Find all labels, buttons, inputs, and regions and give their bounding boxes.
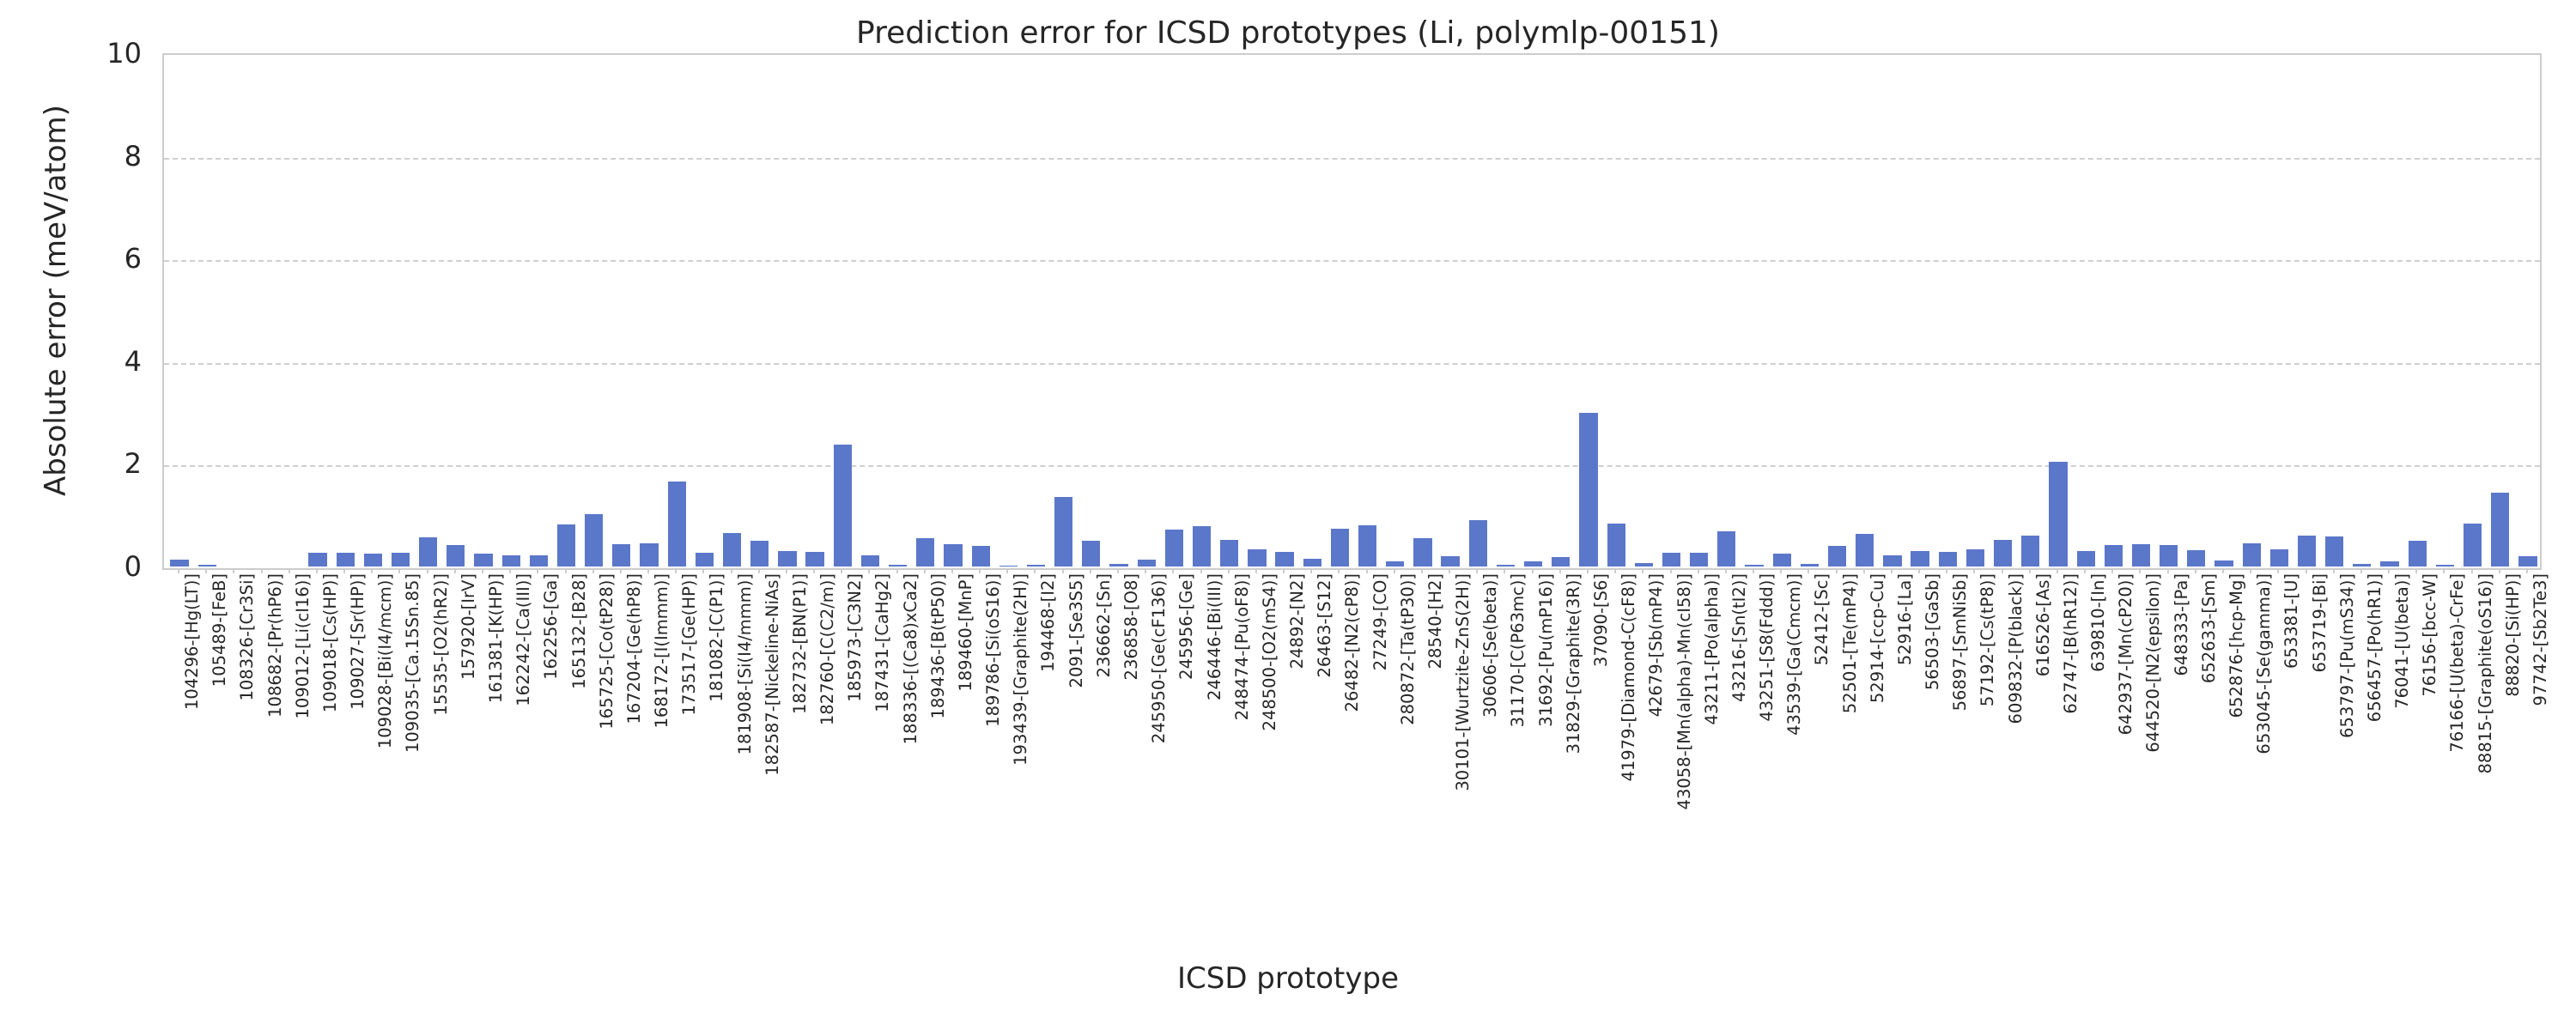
x-tick-label: 165725-[Co(tP28)]: [598, 573, 616, 730]
x-tick-label: 52916-[La]: [1897, 573, 1914, 665]
x-tick-mark: [1449, 568, 1450, 573]
x-tick-mark: [565, 568, 567, 573]
x-tick-mark: [1559, 568, 1561, 573]
x-tick-mark: [675, 568, 677, 573]
x-tick-label: 109027-[Sr(HP)]: [349, 573, 367, 710]
x-tick-mark: [178, 568, 179, 573]
x-tick-label: 165132-[B28]: [571, 573, 588, 689]
x-tick-label: 30606-[Se(beta)]: [1482, 573, 1499, 718]
x-tick-mark: [2360, 568, 2362, 573]
x-tick-mark: [1255, 568, 1257, 573]
x-tick-label: 653797-[Pu(mS34)]: [2339, 573, 2356, 738]
bar: [1441, 556, 1459, 566]
bar: [2049, 462, 2067, 566]
bar: [1082, 541, 1100, 566]
x-tick-label: 108326-[Cr3Si]: [239, 573, 256, 701]
bar: [889, 565, 907, 566]
x-tick-mark: [454, 568, 456, 573]
x-tick-label: 161381-[K(HP)]: [488, 573, 505, 703]
y-tick-label: 8: [125, 140, 142, 173]
x-tick-mark: [1532, 568, 1534, 573]
bar-series: [166, 57, 2538, 566]
x-tick-mark: [2499, 568, 2500, 573]
x-tick-mark: [2084, 568, 2086, 573]
x-tick-label: 248500-[O2(mS4)]: [1261, 573, 1279, 730]
x-tick-label: 280872-[Ta(tP30)]: [1400, 573, 1417, 725]
y-tick-label: 2: [125, 447, 142, 480]
x-tick-label: 652876-[hcp-Mg]: [2228, 573, 2245, 718]
bar: [1856, 534, 1874, 566]
x-tick-mark: [2195, 568, 2196, 573]
x-tick-mark: [2002, 568, 2003, 573]
x-tick-mark: [620, 568, 622, 573]
bar: [2491, 493, 2509, 566]
x-tick-mark: [924, 568, 926, 573]
x-tick-mark: [1338, 568, 1340, 573]
x-tick-mark: [1670, 568, 1672, 573]
bar: [1994, 540, 2012, 566]
x-tick-mark: [758, 568, 760, 573]
x-tick-mark: [1614, 568, 1616, 573]
x-tick-mark: [482, 568, 483, 573]
x-tick-label: 182587-[Nickeline-NiAs]: [764, 573, 781, 776]
x-tick-label: 109012-[Li(cI16)]: [295, 573, 312, 718]
x-tick-label: 56503-[GaSb]: [1924, 573, 1941, 690]
bar: [2380, 561, 2398, 566]
x-tick-label: 42679-[Sb(mP4)]: [1648, 573, 1665, 717]
x-tick-label: 644520-[N2(epsilon)]: [2145, 573, 2162, 753]
bar: [1717, 531, 1735, 566]
bar: [1745, 565, 1763, 566]
x-tick-mark: [2167, 568, 2169, 573]
bar: [530, 555, 548, 566]
bar: [972, 546, 990, 566]
x-tick-label: 76156-[bcc-W]: [2421, 573, 2439, 697]
x-tick-mark: [205, 568, 207, 573]
x-tick-label: 56897-[SmNiSb]: [1952, 573, 1969, 711]
x-tick-label: 648333-[Pa]: [2173, 573, 2190, 676]
bar: [308, 553, 326, 566]
bar: [2132, 544, 2150, 566]
x-tick-mark: [1863, 568, 1865, 573]
bar: [474, 554, 492, 566]
x-tick-label: 157920-[IrV]: [460, 573, 477, 680]
bar: [585, 514, 603, 566]
bar: [1883, 555, 1901, 566]
x-tick-label: 37090-[S6]: [1593, 573, 1610, 667]
x-tick-mark: [1973, 568, 1975, 573]
x-tick-label: 189786-[Si(oS16)]: [985, 573, 1002, 727]
x-tick-mark: [896, 568, 898, 573]
x-tick-label: 28540-[H2]: [1427, 573, 1444, 669]
x-tick-mark: [1090, 568, 1091, 573]
bar: [1358, 525, 1376, 566]
bar: [1303, 559, 1321, 566]
bar: [1579, 413, 1597, 566]
x-tick-label: 653719-[Bi]: [2312, 573, 2329, 673]
x-tick-mark: [1421, 568, 1423, 573]
bar: [364, 554, 382, 566]
bar: [1275, 552, 1293, 566]
x-tick-label: 109035-[Ca.15Sn.85]: [404, 573, 422, 753]
x-tick-label: 245950-[Ge(cF136)]: [1151, 573, 1168, 743]
bar: [502, 555, 520, 566]
bar: [640, 543, 658, 567]
bar: [1109, 564, 1127, 566]
x-tick-mark: [1891, 568, 1893, 573]
x-tick-label: 181082-[C(P1)]: [708, 573, 726, 702]
x-tick-mark: [1034, 568, 1036, 573]
x-tick-mark: [1145, 568, 1146, 573]
x-tick-mark: [1117, 568, 1119, 573]
x-tick-mark: [316, 568, 318, 573]
bar: [2021, 536, 2039, 566]
bar: [1193, 526, 1211, 566]
x-tick-mark: [2415, 568, 2417, 573]
x-tick-mark: [2111, 568, 2113, 573]
bar: [1524, 561, 1542, 566]
x-tick-mark: [1283, 568, 1285, 573]
y-tick-label: 4: [125, 345, 142, 378]
x-tick-label: 26463-[S12]: [1316, 573, 1334, 677]
x-axis-ticks: 104296-[Hg(LT)]105489-[FeB]108326-[Cr3Si…: [164, 573, 2540, 942]
x-tick-label: 245956-[Ge]: [1178, 573, 1195, 680]
x-tick-label: 167204-[Ge(hP8)]: [626, 573, 643, 724]
x-tick-label: 162242-[Ca(III)]: [515, 573, 532, 706]
x-tick-mark: [951, 568, 953, 573]
x-tick-mark: [2250, 568, 2251, 573]
x-tick-label: 236662-[Sn]: [1096, 573, 1113, 677]
x-tick-mark: [2277, 568, 2279, 573]
x-tick-label: 104296-[Hg(LT)]: [184, 573, 201, 710]
x-tick-label: 189436-[B(tP50)]: [930, 573, 947, 719]
bar: [337, 553, 355, 566]
bar: [2270, 549, 2288, 566]
x-tick-label: 97742-[Sb2Te3]: [2532, 573, 2549, 706]
bar: [696, 553, 714, 566]
bar: [916, 538, 934, 566]
x-tick-label: 109028-[Bi(I4/mcm)]: [377, 573, 394, 748]
x-tick-mark: [233, 568, 234, 573]
x-tick-mark: [1310, 568, 1312, 573]
x-tick-label: 616526-[As]: [2035, 573, 2052, 676]
x-tick-label: 24892-[N2]: [1289, 573, 1306, 669]
bar: [1165, 530, 1183, 566]
x-tick-mark: [427, 568, 428, 573]
x-tick-label: 188336-[(Ca8)xCa2]: [902, 573, 920, 744]
x-tick-mark: [979, 568, 981, 573]
x-tick-mark: [1062, 568, 1064, 573]
x-tick-mark: [398, 568, 400, 573]
bar: [2436, 565, 2454, 566]
bar: [1911, 551, 1929, 566]
bar: [1828, 546, 1846, 566]
x-tick-label: 656457-[Po(hR1)]: [2366, 573, 2384, 722]
y-tick-label: 10: [106, 37, 142, 70]
x-tick-label: 108682-[Pr(hP6)]: [267, 573, 284, 718]
x-tick-label: 181908-[Si(I4/mmm)]: [737, 573, 754, 754]
x-tick-mark: [1394, 568, 1395, 573]
y-tick-label: 6: [125, 242, 142, 275]
bar: [861, 555, 879, 566]
bar: [1331, 529, 1349, 566]
bar: [778, 551, 796, 566]
bar: [805, 552, 823, 566]
x-tick-label: 609832-[P(black)]: [2008, 573, 2025, 724]
x-tick-mark: [1725, 568, 1727, 573]
bar: [1607, 524, 1625, 566]
x-tick-mark: [702, 568, 704, 573]
bar: [2160, 545, 2178, 566]
x-tick-label: 31692-[Pu(mP16)]: [1538, 573, 1555, 727]
x-tick-mark: [1504, 568, 1505, 573]
x-tick-mark: [2139, 568, 2141, 573]
bar: [1497, 565, 1515, 566]
x-tick-label: 15535-[O2(hR2)]: [433, 573, 450, 716]
x-tick-mark: [289, 568, 290, 573]
bar: [2325, 536, 2343, 566]
x-tick-label: 41979-[Diamond-C(cF8)]: [1620, 573, 1637, 782]
chart-figure: Prediction error for ICSD prototypes (Li…: [0, 0, 2576, 1030]
page-title: Prediction error for ICSD prototypes (Li…: [0, 15, 2576, 51]
bar: [612, 544, 630, 566]
bar: [2187, 550, 2205, 566]
x-tick-mark: [841, 568, 842, 573]
x-tick-mark: [731, 568, 732, 573]
x-tick-label: 43539-[Ga(Cmcm)]: [1786, 573, 1803, 736]
x-tick-label: 88815-[Graphite(oS16)]: [2477, 573, 2494, 774]
x-tick-label: 236858-[O8]: [1123, 573, 1140, 680]
x-tick-label: 189460-[MnP]: [957, 573, 975, 692]
bar: [1054, 497, 1072, 566]
x-tick-label: 168172-[I(Immm)]: [653, 573, 671, 728]
x-tick-mark: [647, 568, 649, 573]
x-tick-label: 185973-[C3N2]: [847, 573, 864, 702]
x-tick-label: 182760-[C(C2/m)]: [819, 573, 836, 725]
bar: [1966, 549, 1984, 566]
x-tick-mark: [1366, 568, 1368, 573]
x-tick-mark: [261, 568, 263, 573]
x-tick-label: 43058-[Mn(alpha)-Mn(cI58)]: [1676, 573, 1693, 809]
bar: [1138, 560, 1156, 566]
x-tick-mark: [786, 568, 787, 573]
x-tick-mark: [1753, 568, 1754, 573]
y-tick-label: 0: [125, 550, 142, 583]
x-tick-label: 639810-[In]: [2090, 573, 2107, 672]
x-tick-mark: [1642, 568, 1643, 573]
x-tick-label: 31170-[C(P63mc)]: [1510, 573, 1527, 727]
x-tick-mark: [1698, 568, 1699, 573]
x-tick-label: 76041-[U(beta)]: [2394, 573, 2411, 709]
y-axis-ticks: 0246810: [0, 53, 150, 570]
x-tick-mark: [868, 568, 870, 573]
bar: [419, 537, 437, 566]
bar: [1027, 565, 1045, 566]
x-tick-label: 52412-[Sc]: [1814, 573, 1831, 665]
bar: [392, 553, 410, 566]
bar: [2243, 543, 2261, 567]
x-tick-mark: [2471, 568, 2473, 573]
x-tick-label: 52501-[Te(mP4)]: [1842, 573, 1859, 713]
x-tick-label: 30101-[Wurtzite-ZnS(2H)]: [1455, 573, 1472, 791]
bar: [723, 533, 741, 566]
bar: [944, 544, 962, 566]
bar: [2353, 564, 2371, 566]
x-tick-label: 76166-[U(beta)-CrFe]: [2449, 573, 2466, 753]
x-tick-label: 52914-[ccp-Cu]: [1869, 573, 1886, 703]
bar: [1939, 552, 1957, 566]
bar: [1248, 549, 1266, 566]
x-tick-label: 162256-[Ga]: [543, 573, 560, 680]
x-tick-label: 109018-[Cs(HP)]: [322, 573, 339, 712]
bar: [447, 545, 465, 566]
x-tick-label: 652633-[Sm]: [2201, 573, 2218, 683]
x-tick-mark: [1006, 568, 1008, 573]
bar: [2215, 560, 2233, 566]
x-axis-label: ICSD prototype: [0, 961, 2576, 996]
x-tick-mark: [1228, 568, 1230, 573]
x-tick-label: 31829-[Graphite(3R)]: [1565, 573, 1583, 754]
x-tick-mark: [1836, 568, 1838, 573]
x-tick-mark: [1807, 568, 1809, 573]
x-tick-mark: [371, 568, 373, 573]
x-tick-mark: [509, 568, 511, 573]
x-tick-label: 43211-[Po(alpha)]: [1704, 573, 1721, 725]
bar: [1801, 564, 1819, 566]
x-tick-mark: [2306, 568, 2307, 573]
x-tick-mark: [537, 568, 538, 573]
bar: [1220, 540, 1238, 566]
bar: [1552, 557, 1570, 566]
x-tick-label: 88820-[Si(HP)]: [2505, 573, 2522, 697]
x-tick-label: 43216-[Sn(tI2)]: [1731, 573, 1748, 702]
x-tick-label: 193439-[Graphite(2H)]: [1012, 573, 1030, 766]
bar: [2518, 556, 2537, 566]
x-tick-label: 105489-[FeB]: [211, 573, 228, 687]
bar: [1635, 563, 1653, 566]
x-tick-mark: [2057, 568, 2058, 573]
plot-area: [162, 53, 2542, 570]
x-tick-label: 182732-[BN(P1)]: [792, 573, 809, 714]
bar: [2464, 524, 2482, 566]
bar: [2409, 541, 2427, 566]
x-tick-mark: [343, 568, 345, 573]
bar: [999, 566, 1018, 566]
x-tick-label: 187431-[CaHg2]: [874, 573, 891, 712]
bar: [1690, 553, 1708, 566]
x-tick-label: 653045-[Se(gamma)]: [2256, 573, 2273, 754]
x-tick-mark: [2333, 568, 2335, 573]
x-tick-label: 43251-[S8(Fddd)]: [1759, 573, 1776, 722]
x-tick-mark: [2443, 568, 2445, 573]
bar: [1662, 553, 1680, 566]
x-tick-label: 653381-[U]: [2283, 573, 2300, 669]
bar: [750, 541, 769, 566]
bar: [834, 445, 852, 566]
bar: [2105, 545, 2123, 566]
x-tick-mark: [2388, 568, 2390, 573]
x-tick-label: 62747-[B(hR12)]: [2063, 573, 2080, 714]
x-tick-label: 194468-[I2]: [1040, 573, 1057, 672]
x-tick-label: 57192-[Cs(tP8)]: [1979, 573, 1996, 706]
x-tick-label: 27249-[CO]: [1372, 573, 1389, 670]
x-tick-label: 246446-[Bi(III)]: [1206, 573, 1224, 700]
bar: [1413, 538, 1431, 566]
x-tick-mark: [592, 568, 594, 573]
x-tick-mark: [1587, 568, 1589, 573]
bar: [2077, 551, 2095, 566]
x-tick-label: 2091-[Se3S5]: [1068, 573, 1085, 688]
bar: [1469, 520, 1487, 566]
x-tick-mark: [813, 568, 815, 573]
x-tick-mark: [2029, 568, 2031, 573]
x-tick-mark: [1172, 568, 1174, 573]
x-tick-mark: [1918, 568, 1920, 573]
x-tick-mark: [1476, 568, 1478, 573]
bar: [557, 524, 575, 566]
x-tick-label: 642937-[Mn(cP20)]: [2117, 573, 2135, 735]
bar: [668, 482, 686, 566]
bar: [1773, 554, 1791, 566]
x-tick-mark: [2222, 568, 2224, 573]
x-tick-mark: [1946, 568, 1947, 573]
bar: [2298, 536, 2316, 566]
x-tick-label: 26482-[N2(cP8)]: [1344, 573, 1361, 712]
x-tick-mark: [2526, 568, 2528, 573]
bar: [1386, 561, 1404, 566]
bar: [198, 565, 216, 566]
x-tick-label: 248474-[Pu(oF8)]: [1234, 573, 1251, 720]
x-tick-mark: [1780, 568, 1782, 573]
x-tick-mark: [1200, 568, 1202, 573]
bar: [170, 560, 188, 566]
x-tick-label: 173517-[Ge(HP)]: [681, 573, 698, 715]
